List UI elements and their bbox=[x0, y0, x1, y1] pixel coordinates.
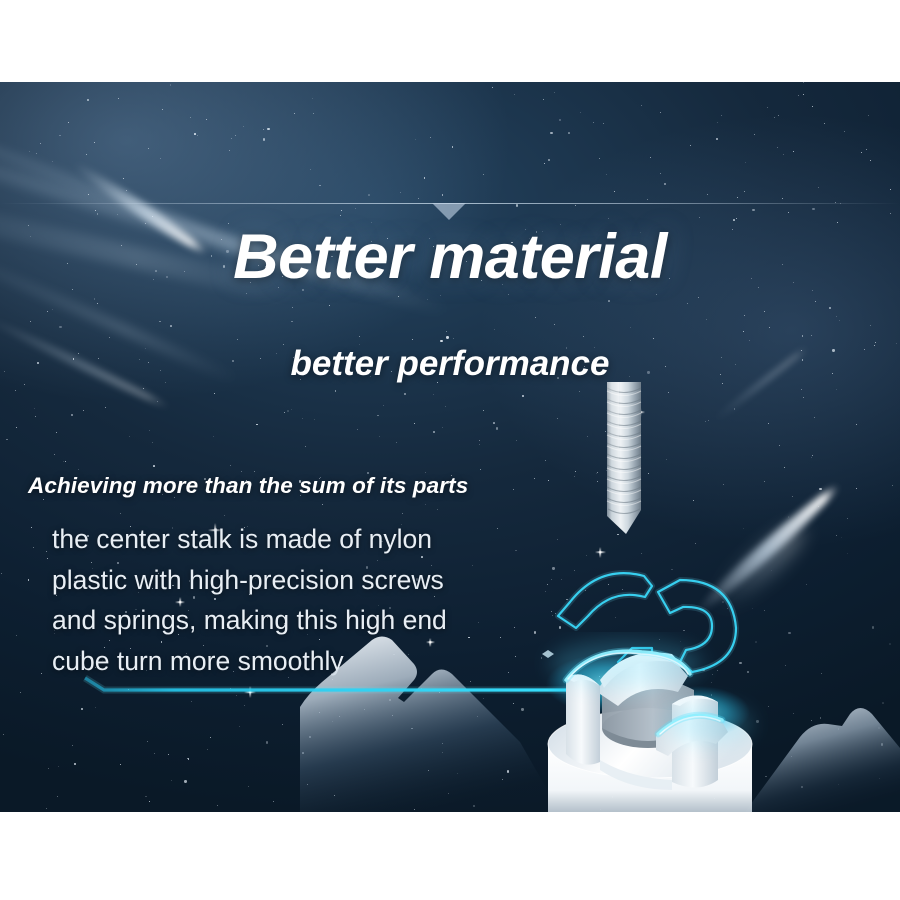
nylon-center-stalk bbox=[530, 632, 770, 812]
kicker-text: Achieving more than the sum of its parts bbox=[28, 473, 468, 499]
body-line: plastic with high-precision screws bbox=[52, 560, 522, 601]
page-subtitle: better performance bbox=[0, 344, 900, 384]
page-title: Better material bbox=[0, 221, 900, 293]
chevron-down-icon bbox=[432, 203, 466, 220]
promo-banner-page: Better material better performance Achie… bbox=[0, 0, 900, 900]
starfield-banner: Better material better performance Achie… bbox=[0, 82, 900, 812]
body-line: the center stalk is made of nylon bbox=[52, 519, 522, 560]
product-illustration bbox=[500, 382, 800, 812]
high-precision-screw bbox=[597, 382, 651, 552]
